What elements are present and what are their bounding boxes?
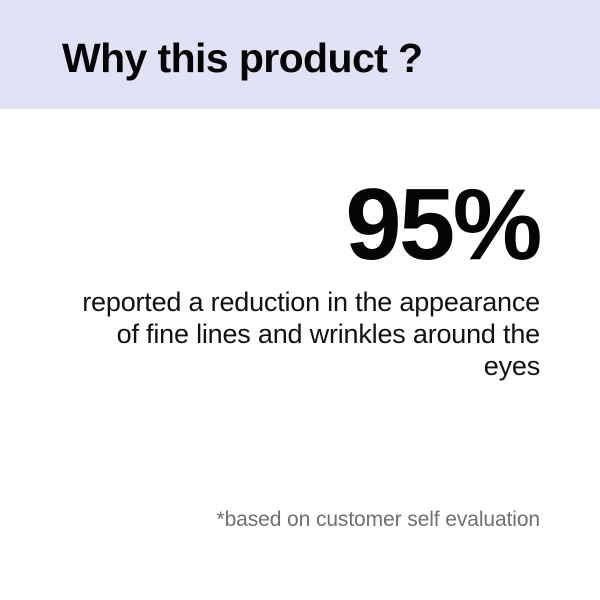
stat-value: 95% <box>60 109 540 268</box>
page-title: Why this product ? <box>62 38 422 79</box>
promo-card: Why this product ? 95% reported a reduct… <box>0 0 600 600</box>
main-content: 95% reported a reduction in the appearan… <box>0 109 600 600</box>
stat-description: reported a reduction in the appearance o… <box>60 268 540 382</box>
header-band: Why this product ? <box>0 0 600 109</box>
footnote-disclaimer: *based on customer self evaluation <box>60 507 540 532</box>
statistic-block: 95% reported a reduction in the appearan… <box>60 109 540 382</box>
